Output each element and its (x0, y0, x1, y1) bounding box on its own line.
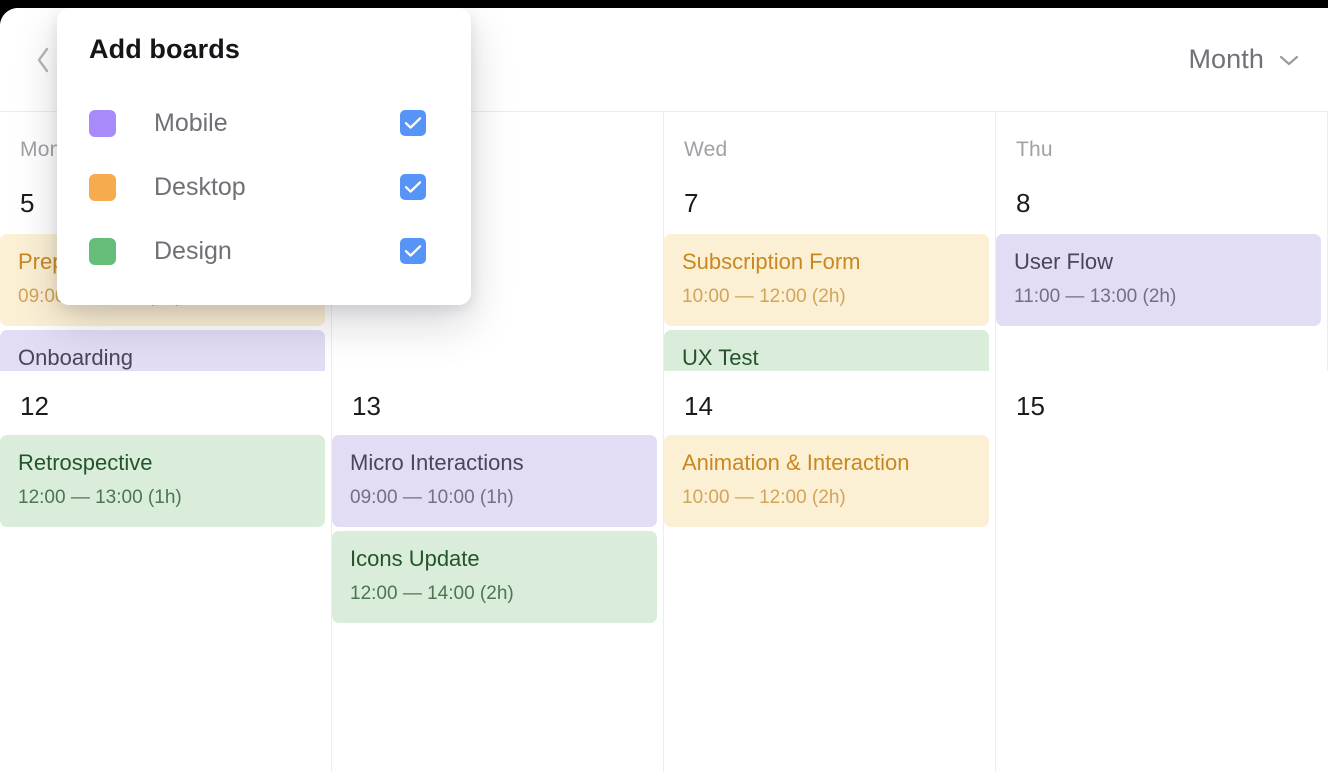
date-number: 14 (664, 371, 989, 419)
chevron-down-icon (1278, 53, 1300, 67)
board-name-label: Design (154, 237, 400, 266)
board-checkbox-desktop[interactable] (400, 174, 426, 200)
date-number: 12 (0, 371, 325, 419)
event-time: 10:00 — 12:00 (2h) (682, 287, 971, 308)
board-name-label: Mobile (154, 109, 400, 138)
event-title: Retrospective (18, 451, 307, 475)
event-list: User Flow 11:00 — 13:00 (2h) (996, 234, 1321, 326)
date-number: 13 (332, 371, 657, 419)
check-icon (404, 244, 422, 258)
event-title: User Flow (1014, 250, 1303, 274)
event-card[interactable]: Onboarding 14:00 — 15:00 (1h) (0, 330, 325, 371)
event-list: Micro Interactions 09:00 — 10:00 (1h) Ic… (332, 435, 657, 623)
check-icon (404, 180, 422, 194)
popup-title: Add boards (89, 34, 445, 65)
event-title: Animation & Interaction (682, 451, 971, 475)
day-cell-tue-13[interactable]: 13 Micro Interactions 09:00 — 10:00 (1h)… (332, 371, 664, 772)
event-card[interactable]: Micro Interactions 09:00 — 10:00 (1h) (332, 435, 657, 527)
event-time: 12:00 — 13:00 (1h) (18, 488, 307, 509)
event-list: Retrospective 12:00 — 13:00 (1h) (0, 435, 325, 527)
event-title: Subscription Form (682, 250, 971, 274)
dow-label-thu: Thu (996, 112, 1321, 162)
chevron-left-icon (33, 45, 53, 75)
event-time: 11:00 — 13:00 (2h) (1014, 287, 1303, 308)
calendar-app-window: Month Mon 5 Prep 09:00 — 10:00 (1h) Onbo… (0, 8, 1328, 772)
event-card[interactable]: Animation & Interaction 10:00 — 12:00 (2… (664, 435, 989, 527)
event-list: Animation & Interaction 10:00 — 12:00 (2… (664, 435, 989, 527)
board-name-label: Desktop (154, 173, 400, 202)
add-boards-popup: Add boards Mobile Desktop (57, 8, 471, 305)
event-title: UX Test (682, 346, 971, 370)
dow-label-wed: Wed (664, 112, 989, 162)
view-mode-label: Month (1188, 44, 1264, 75)
event-card[interactable]: User Flow 11:00 — 13:00 (2h) (996, 234, 1321, 326)
event-card[interactable]: Icons Update 12:00 — 14:00 (2h) (332, 531, 657, 623)
event-title: Onboarding (18, 346, 307, 370)
event-title: Icons Update (350, 547, 639, 571)
board-color-swatch (89, 238, 116, 265)
date-number: 7 (664, 162, 989, 216)
board-color-swatch (89, 110, 116, 137)
event-card[interactable]: Retrospective 12:00 — 13:00 (1h) (0, 435, 325, 527)
previous-period-button[interactable] (26, 43, 60, 77)
board-row-mobile[interactable]: Mobile (89, 91, 445, 155)
date-number: 8 (996, 162, 1321, 216)
event-card[interactable]: UX Test 13:00 — 15:00 (2h) (664, 330, 989, 371)
date-number: 15 (996, 371, 1322, 419)
day-cell-thu-8[interactable]: Thu 8 User Flow 11:00 — 13:00 (2h) (996, 112, 1328, 371)
day-cell-mon-12[interactable]: 12 Retrospective 12:00 — 13:00 (1h) (0, 371, 332, 772)
event-card[interactable]: Subscription Form 10:00 — 12:00 (2h) (664, 234, 989, 326)
event-list: Subscription Form 10:00 — 12:00 (2h) UX … (664, 234, 989, 371)
event-time: 12:00 — 14:00 (2h) (350, 584, 639, 605)
event-time: 09:00 — 10:00 (1h) (350, 488, 639, 509)
day-cell-wed-14[interactable]: 14 Animation & Interaction 10:00 — 12:00… (664, 371, 996, 772)
board-row-desktop[interactable]: Desktop (89, 155, 445, 219)
check-icon (404, 116, 422, 130)
event-time: 10:00 — 12:00 (2h) (682, 488, 971, 509)
day-cell-thu-15[interactable]: 15 (996, 371, 1328, 772)
board-checkbox-design[interactable] (400, 238, 426, 264)
day-cell-wed-7[interactable]: Wed 7 Subscription Form 10:00 — 12:00 (2… (664, 112, 996, 371)
board-checkbox-mobile[interactable] (400, 110, 426, 136)
board-color-swatch (89, 174, 116, 201)
board-row-design[interactable]: Design (89, 219, 445, 283)
event-title: Micro Interactions (350, 451, 639, 475)
view-mode-select[interactable]: Month (1188, 44, 1300, 75)
